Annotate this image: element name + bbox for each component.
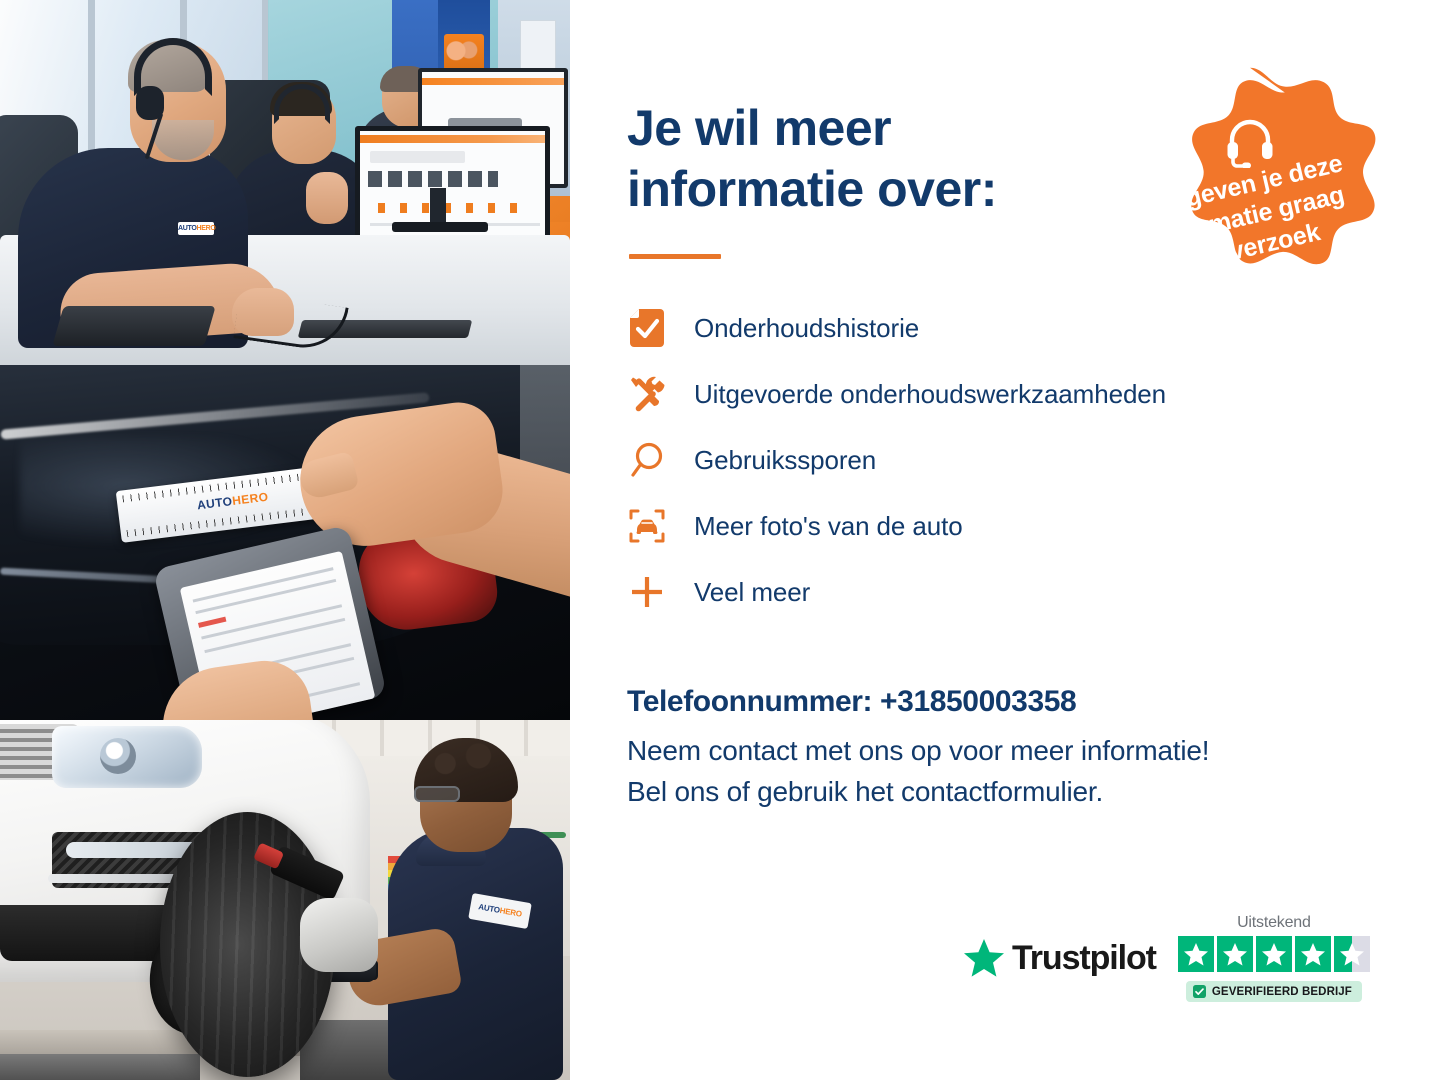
- star-2: [1217, 936, 1253, 972]
- list-item: Gebruikssporen: [627, 427, 1380, 493]
- headline-line-2: informatie over:: [627, 161, 997, 217]
- plus-icon: [627, 572, 667, 612]
- star-3: [1256, 936, 1292, 972]
- headset-icon: [1223, 114, 1277, 168]
- star-5-half: [1334, 936, 1370, 972]
- list-item: Uitgevoerde onderhoudswerkzaamheden: [627, 361, 1380, 427]
- car-scan-icon: [627, 506, 667, 546]
- trustpilot-rating: Uitstekend GEVERIFIEERD BEDRIJF: [1178, 914, 1370, 1002]
- feature-label: Meer foto's van de auto: [694, 511, 963, 542]
- verified-check-icon: [1193, 985, 1206, 998]
- rating-label: Uitstekend: [1237, 914, 1311, 932]
- list-item: Veel meer: [627, 559, 1380, 625]
- star-rating: [1178, 936, 1370, 972]
- autohero-polo-logo: AUTOHERO: [178, 222, 214, 235]
- feature-label: Veel meer: [694, 577, 810, 608]
- content-panel: Je wil meer informatie over: Onderhoudsh…: [570, 0, 1440, 1080]
- title-divider: [629, 254, 721, 259]
- feature-label: Uitgevoerde onderhoudswerkzaamheden: [694, 379, 1166, 410]
- feature-label: Gebruikssporen: [694, 445, 876, 476]
- promo-banner: AUTOHERO AUTOHERO: [0, 0, 1440, 1080]
- trustpilot-star-icon: [963, 938, 1005, 978]
- workshop-tire-photo: AUTOHERO: [0, 720, 570, 1080]
- phone-number[interactable]: Telefoonnummer: +31850003358: [627, 685, 1380, 719]
- contact-line-2: Bel ons of gebruik het contactformulier.: [627, 776, 1103, 807]
- headline-line-1: Je wil meer: [627, 100, 891, 156]
- trustpilot-widget[interactable]: Trustpilot Uitstekend GEVERIFIEERD BED: [963, 914, 1370, 1002]
- document-check-icon: [627, 308, 667, 348]
- wrench-screwdriver-icon: [627, 374, 667, 414]
- car-inspection-photo: AUTOHERO: [0, 365, 570, 720]
- call-center-agents-photo: AUTOHERO: [0, 0, 570, 365]
- verified-label: GEVERIFIEERD BEDRIJF: [1212, 986, 1352, 998]
- star-1: [1178, 936, 1214, 972]
- feature-label: Onderhoudshistorie: [694, 313, 919, 344]
- verified-business-badge: GEVERIFIEERD BEDRIJF: [1186, 981, 1362, 1002]
- request-info-badge: We geven je deze informatie graag op ver…: [1105, 62, 1395, 352]
- contact-line-1: Neem contact met ons op voor meer inform…: [627, 735, 1209, 766]
- contact-text: Neem contact met ons op voor meer inform…: [627, 731, 1380, 813]
- list-item: Meer foto's van de auto: [627, 493, 1380, 559]
- page-title: Je wil meer informatie over:: [627, 98, 1147, 220]
- trustpilot-wordmark: Trustpilot: [1012, 939, 1156, 978]
- star-4: [1295, 936, 1331, 972]
- magnifier-icon: [627, 440, 667, 480]
- contact-block: Telefoonnummer: +31850003358 Neem contac…: [627, 685, 1380, 813]
- photo-column: AUTOHERO AUTOHERO: [0, 0, 570, 1080]
- trustpilot-logo: Trustpilot: [963, 938, 1156, 978]
